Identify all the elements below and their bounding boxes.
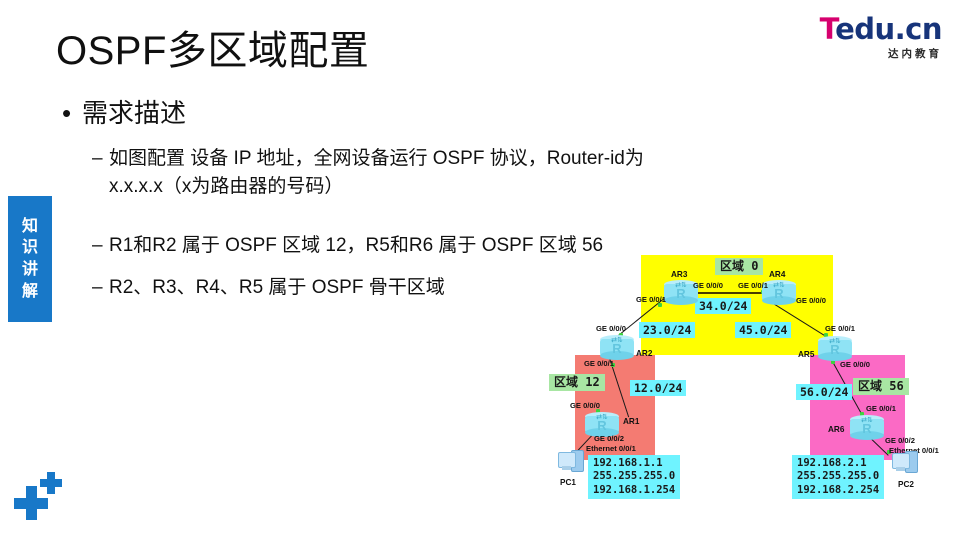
dash-icon-1: – [92, 145, 109, 173]
plus-decoration-small [40, 472, 62, 494]
router-ar1-glyph: R [585, 419, 619, 432]
side-tab-char-2: 识 [22, 237, 38, 259]
bullet-level1: •需求描述 [62, 93, 186, 130]
bullet-level2-item-1: –如图配置 设备 IP 地址，全网设备运行 OSPF 协议，Router-id为… [92, 145, 892, 200]
logo-text-rest: edu.cn [835, 12, 942, 46]
router-ar6-label: AR6 [828, 425, 844, 434]
logo-letter-t: T [820, 12, 835, 46]
iface-ar3-left: GE 0/0/1 [636, 295, 666, 304]
side-tab-char-4: 解 [22, 281, 38, 303]
side-tab-knowledge: 知 识 讲 解 [8, 196, 52, 322]
host-pc2-label: PC2 [898, 480, 914, 489]
bullet-level2-label-1b: x.x.x.x（x为路由器的号码） [92, 173, 892, 201]
link-ar3-ar4 [689, 292, 763, 294]
iface-ar4-right: GE 0/0/0 [796, 296, 826, 305]
logo-subtitle: 达内教育 [888, 46, 942, 61]
pc1-gw: 192.168.1.254 [593, 484, 675, 496]
router-ar2-glyph: R [600, 342, 634, 355]
bullet-level2-label-2: R1和R2 属于 OSPF 区域 12，R5和R6 属于 OSPF 区域 56 [109, 235, 603, 256]
slide-canvas: Tedu.cn 达内教育 OSPF多区域配置 知 识 讲 解 •需求描述 –如图… [0, 0, 960, 540]
router-ar1-icon[interactable]: ⇄⇅R [585, 412, 619, 436]
network-label-34: 34.0/24 [695, 298, 751, 314]
router-ar3-label: AR3 [671, 270, 687, 279]
network-label-56: 56.0/24 [796, 384, 852, 400]
network-label-23: 23.0/24 [639, 322, 695, 338]
iface-ar5-down: GE 0/0/0 [840, 360, 870, 369]
dash-icon-3: – [92, 277, 109, 299]
network-label-45: 45.0/24 [735, 322, 791, 338]
network-label-12: 12.0/24 [630, 380, 686, 396]
ip-config-pc2: 192.168.2.1 255.255.255.0 192.168.2.254 [792, 455, 884, 499]
side-tab-char-1: 知 [22, 216, 38, 238]
bullet-level1-label: 需求描述 [82, 98, 186, 128]
iface-pc1-eth: Ethernet 0/0/1 [586, 444, 636, 453]
pc1-mask: 255.255.255.0 [593, 470, 675, 482]
pc1-ip: 192.168.1.1 [593, 457, 663, 469]
router-ar6-icon[interactable]: ⇄⇅R [850, 415, 884, 439]
router-ar5-icon[interactable]: ⇄⇅R [818, 336, 852, 360]
bullet-level2-item-2: –R1和R2 属于 OSPF 区域 12，R5和R6 属于 OSPF 区域 56 [92, 230, 603, 257]
iface-ar2-down: GE 0/0/1 [584, 359, 614, 368]
tedu-logo: Tedu.cn 达内教育 [792, 14, 942, 62]
pc2-ip: 192.168.2.1 [797, 457, 867, 469]
dash-icon-2: – [92, 235, 109, 257]
iface-ar3-right: GE 0/0/0 [693, 281, 723, 290]
iface-ar4-left: GE 0/0/1 [738, 281, 768, 290]
bullet-level2-item-3: –R2、R3、R4、R5 属于 OSPF 骨干区域 [92, 272, 445, 299]
bullet-level2-label-1: 如图配置 设备 IP 地址，全网设备运行 OSPF 协议，Router-id为 [109, 148, 644, 169]
host-pc1-label: PC1 [560, 478, 576, 487]
page-title: OSPF多区域配置 [56, 18, 369, 76]
network-topology-diagram: 区域 0 区域 12 区域 56 34.0/24 23.0/24 45.0/24… [540, 252, 960, 540]
router-ar1-label: AR1 [623, 417, 639, 426]
router-ar2-icon[interactable]: ⇄⇅R [600, 335, 634, 359]
zone-label-area-0: 区域 0 [715, 258, 763, 275]
router-ar5-label: AR5 [798, 350, 814, 359]
iface-ar6-down: GE 0/0/2 [885, 436, 915, 445]
iface-ar5-up: GE 0/0/1 [825, 324, 855, 333]
pc2-mask: 255.255.255.0 [797, 470, 879, 482]
router-ar2-label: AR2 [636, 349, 652, 358]
logo-wordmark: Tedu.cn [820, 15, 942, 44]
router-ar6-glyph: R [850, 422, 884, 435]
bullet-level2-label-3: R2、R3、R4、R5 属于 OSPF 骨干区域 [109, 277, 445, 298]
side-tab-char-3: 讲 [22, 259, 38, 281]
host-pc2-icon[interactable] [892, 451, 918, 475]
bullet-dot-icon: • [62, 98, 82, 129]
router-ar4-label: AR4 [769, 270, 785, 279]
ip-config-pc1: 192.168.1.1 255.255.255.0 192.168.1.254 [588, 455, 680, 499]
zone-label-area-56: 区域 56 [853, 378, 909, 395]
iface-ar6-up: GE 0/0/1 [866, 404, 896, 413]
pc2-gw: 192.168.2.254 [797, 484, 879, 496]
host-pc1-icon[interactable] [558, 450, 584, 474]
iface-ar1-up: GE 0/0/0 [570, 401, 600, 410]
router-ar5-glyph: R [818, 343, 852, 356]
zone-label-area-12: 区域 12 [549, 374, 605, 391]
iface-ar2-up: GE 0/0/0 [596, 324, 626, 333]
iface-ar1-down: GE 0/0/2 [594, 434, 624, 443]
